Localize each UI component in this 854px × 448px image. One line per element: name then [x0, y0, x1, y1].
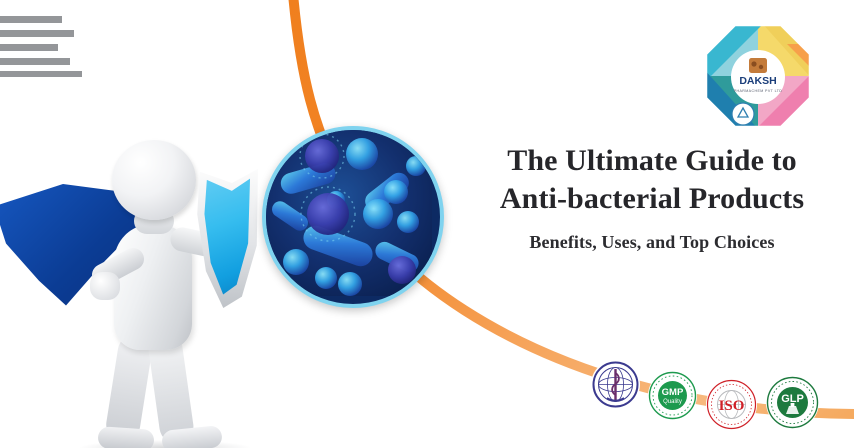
- headline-line-1: The Ultimate Guide to: [462, 142, 842, 180]
- figure-foot-left: [97, 426, 154, 448]
- svg-text:Quality: Quality: [663, 399, 682, 405]
- glp-certification-badge: GLP: [766, 376, 819, 429]
- daksh-logo: DAKSH PHARMACHEM PVT LTD: [703, 22, 813, 130]
- logo-tagline: PHARMACHEM PVT LTD: [734, 89, 783, 93]
- antibacterial-guide-banner: DAKSH PHARMACHEM PVT LTD The Ultimate Gu…: [0, 0, 854, 448]
- gmp-certification-badge: GMP Quality: [648, 371, 697, 420]
- who-certification-badge: [591, 360, 640, 409]
- striped-wedge-decoration: [0, 16, 86, 78]
- headline-block: The Ultimate Guide to Anti-bacterial Pro…: [462, 142, 842, 253]
- svg-text:GMP: GMP: [662, 387, 684, 398]
- svg-text:ISO: ISO: [719, 398, 745, 414]
- logo-brand-name: DAKSH: [739, 75, 776, 87]
- headline-subtitle: Benefits, Uses, and Top Choices: [462, 232, 842, 253]
- headline-line-2: Anti-bacterial Products: [462, 180, 842, 218]
- shield-icon: [196, 166, 258, 308]
- bacteria-microscopy-circle: [262, 126, 444, 308]
- figure-head: [112, 140, 196, 220]
- figure-fist: [90, 272, 120, 300]
- iso-certification-badge: ISO: [706, 379, 757, 430]
